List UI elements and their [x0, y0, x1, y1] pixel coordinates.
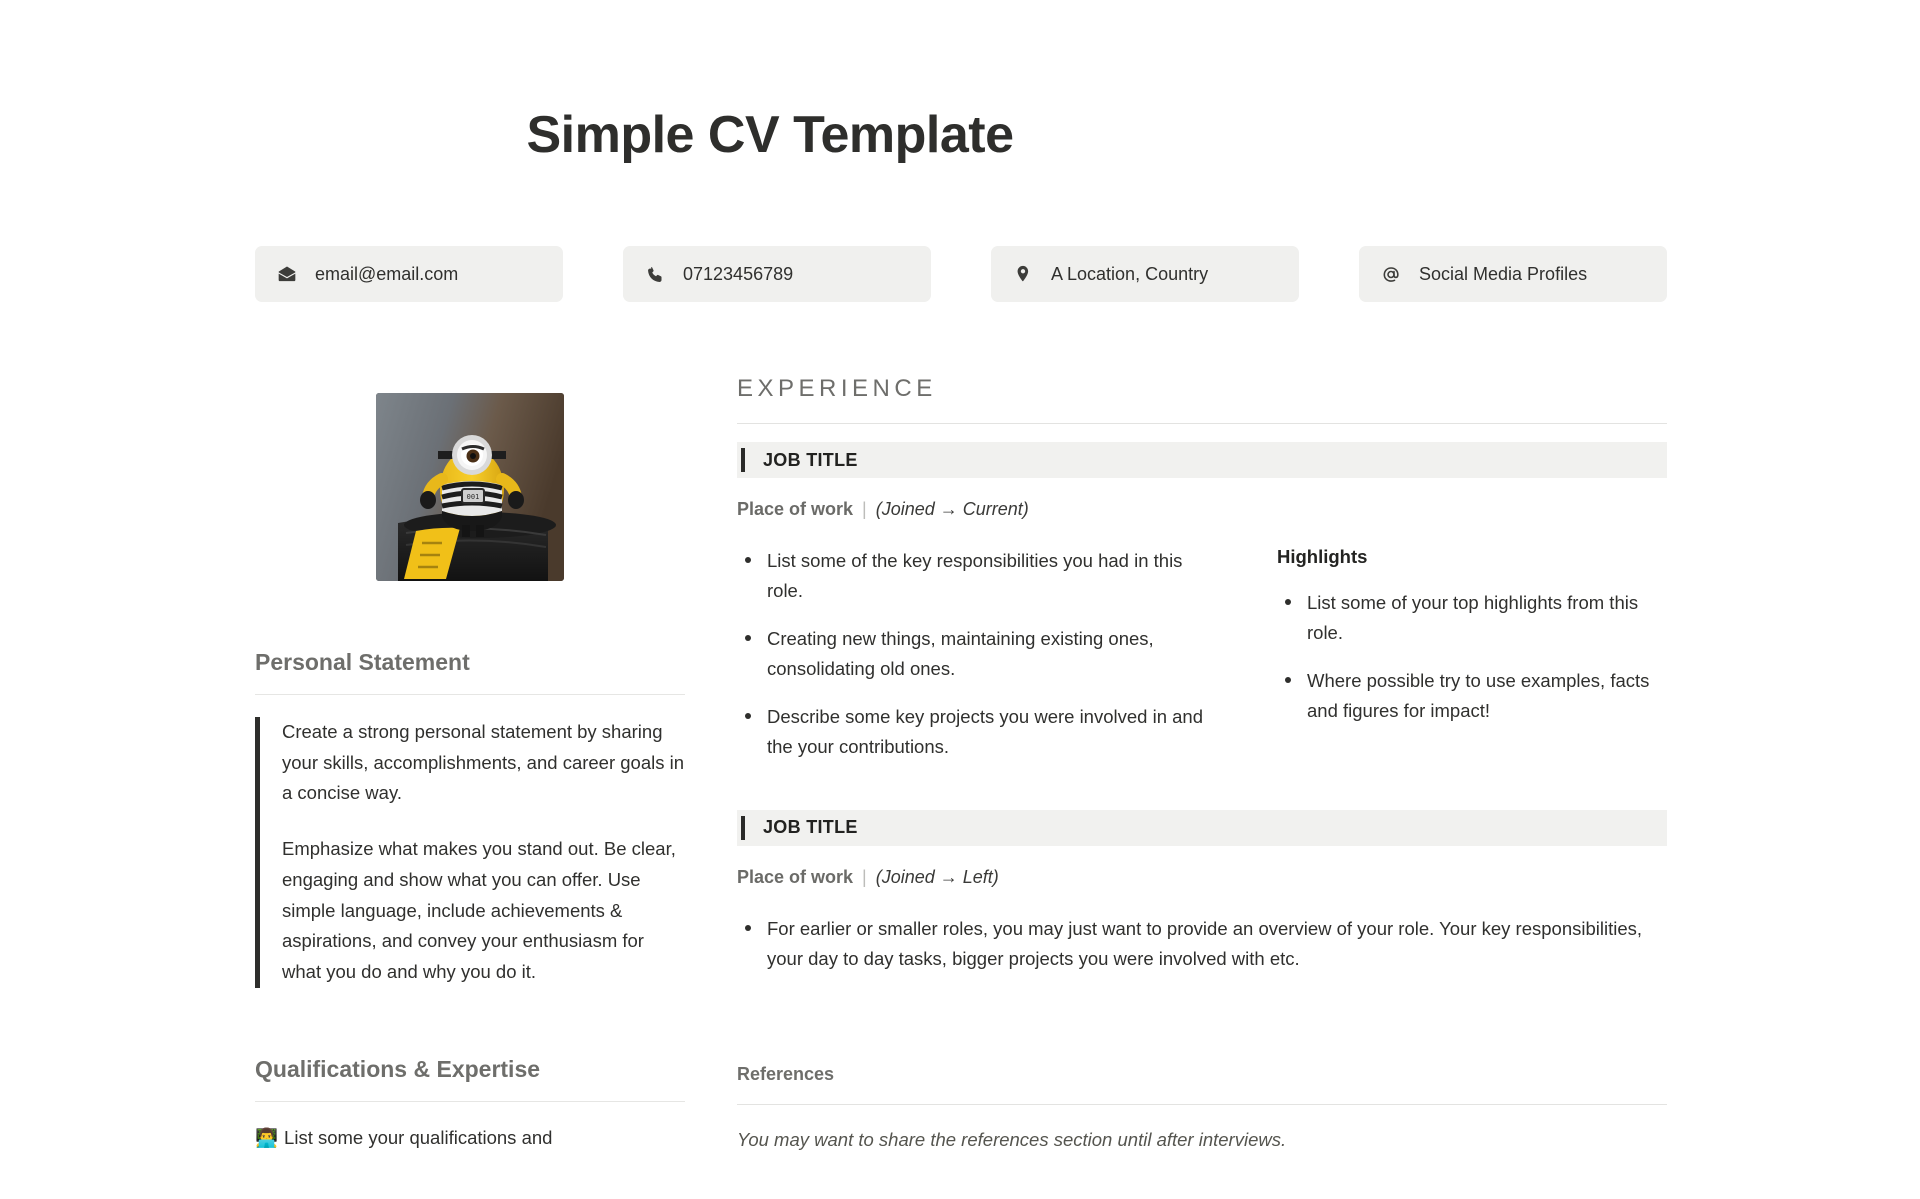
developer-emoji-icon: 👨‍💻 [255, 1127, 278, 1148]
job-responsibilities-column: List some of the key responsibilities yo… [737, 546, 1207, 762]
job-title-text: JOB TITLE [763, 817, 858, 838]
contact-chip-row: email@email.com 07123456789 A Location, … [255, 246, 1667, 302]
job-title-bar: JOB TITLE [737, 810, 1667, 846]
job-meta: Place of work | (Joined → Current) [737, 499, 1667, 520]
list-item: Where possible try to use examples, fact… [1277, 666, 1667, 726]
references-section: References You may want to share the ref… [737, 1064, 1667, 1151]
cv-body: 001 Personal Statement [0, 375, 1920, 1199]
profile-photo-wrap: 001 [255, 393, 685, 581]
references-divider [737, 1104, 1667, 1105]
experience-job-1: JOB TITLE Place of work | (Joined → Curr… [737, 442, 1667, 762]
page-title: Simple CV Template [0, 105, 1920, 165]
job-accent-bar [741, 448, 745, 472]
job-place-of-work: Place of work [737, 867, 853, 888]
list-item: List some of your top highlights from th… [1277, 588, 1667, 648]
contact-chip-social[interactable]: Social Media Profiles [1359, 246, 1667, 302]
qualifications-item-text: List some your qualifications and [284, 1127, 552, 1148]
personal-statement-divider [255, 694, 685, 695]
job-title-bar: JOB TITLE [737, 442, 1667, 478]
job-responsibilities-column: For earlier or smaller roles, you may ju… [737, 914, 1667, 974]
cv-document-page: Simple CV Template email@email.com 07123… [0, 0, 1920, 1199]
contact-chip-location-text: A Location, Country [1051, 264, 1208, 285]
personal-statement-paragraph-1: Create a strong personal statement by sh… [282, 717, 685, 809]
list-item: For earlier or smaller roles, you may ju… [737, 914, 1667, 974]
list-item: List some of the key responsibilities yo… [737, 546, 1207, 606]
qualifications-heading: Qualifications & Expertise [255, 1056, 685, 1083]
contact-chip-email[interactable]: email@email.com [255, 246, 563, 302]
at-sign-icon [1381, 264, 1401, 284]
qualifications-item: 👨‍💻List some your qualifications and [255, 1123, 685, 1154]
phone-icon [645, 264, 665, 284]
job-title-text: JOB TITLE [763, 450, 858, 471]
job-content-columns: List some of the key responsibilities yo… [737, 546, 1667, 762]
job-responsibilities-list: For earlier or smaller roles, you may ju… [737, 914, 1667, 974]
email-icon [277, 264, 297, 284]
references-note: You may want to share the references sec… [737, 1129, 1667, 1151]
list-item: Creating new things, maintaining existin… [737, 624, 1207, 684]
job-meta: Place of work | (Joined → Left) [737, 867, 1667, 888]
job-dates: (Joined → Current) [876, 499, 1029, 520]
references-heading: References [737, 1064, 1667, 1085]
job-meta-separator: | [862, 867, 867, 888]
job-highlights-list: List some of your top highlights from th… [1277, 588, 1667, 726]
contact-chip-phone-text: 07123456789 [683, 264, 793, 285]
personal-statement-heading: Personal Statement [255, 649, 685, 676]
job-place-of-work: Place of work [737, 499, 853, 520]
contact-chip-social-text: Social Media Profiles [1419, 264, 1587, 285]
experience-job-2: JOB TITLE Place of work | (Joined → Left… [737, 810, 1667, 974]
personal-statement-paragraph-2: Emphasize what makes you stand out. Be c… [282, 834, 685, 988]
job-responsibilities-list: List some of the key responsibilities yo… [737, 546, 1207, 762]
job-meta-separator: | [862, 499, 867, 520]
job-highlights-column: Highlights List some of your top highlig… [1277, 546, 1667, 762]
contact-chip-phone[interactable]: 07123456789 [623, 246, 931, 302]
personal-statement-quote: Create a strong personal statement by sh… [255, 717, 685, 988]
contact-chip-location[interactable]: A Location, Country [991, 246, 1299, 302]
experience-heading: EXPERIENCE [737, 375, 1667, 403]
job-accent-bar [741, 816, 745, 840]
qualifications-divider [255, 1101, 685, 1102]
job-dates: (Joined → Left) [876, 867, 999, 888]
location-pin-icon [1013, 264, 1033, 284]
cv-main: EXPERIENCE JOB TITLE Place of work | (Jo… [737, 375, 1667, 1151]
contact-chip-email-text: email@email.com [315, 264, 458, 285]
cv-sidebar: 001 Personal Statement [255, 375, 685, 1153]
svg-text:001: 001 [467, 493, 480, 501]
list-item: Describe some key projects you were invo… [737, 702, 1207, 762]
experience-divider [737, 423, 1667, 424]
job-highlights-heading: Highlights [1277, 546, 1667, 568]
profile-photo: 001 [376, 393, 564, 581]
